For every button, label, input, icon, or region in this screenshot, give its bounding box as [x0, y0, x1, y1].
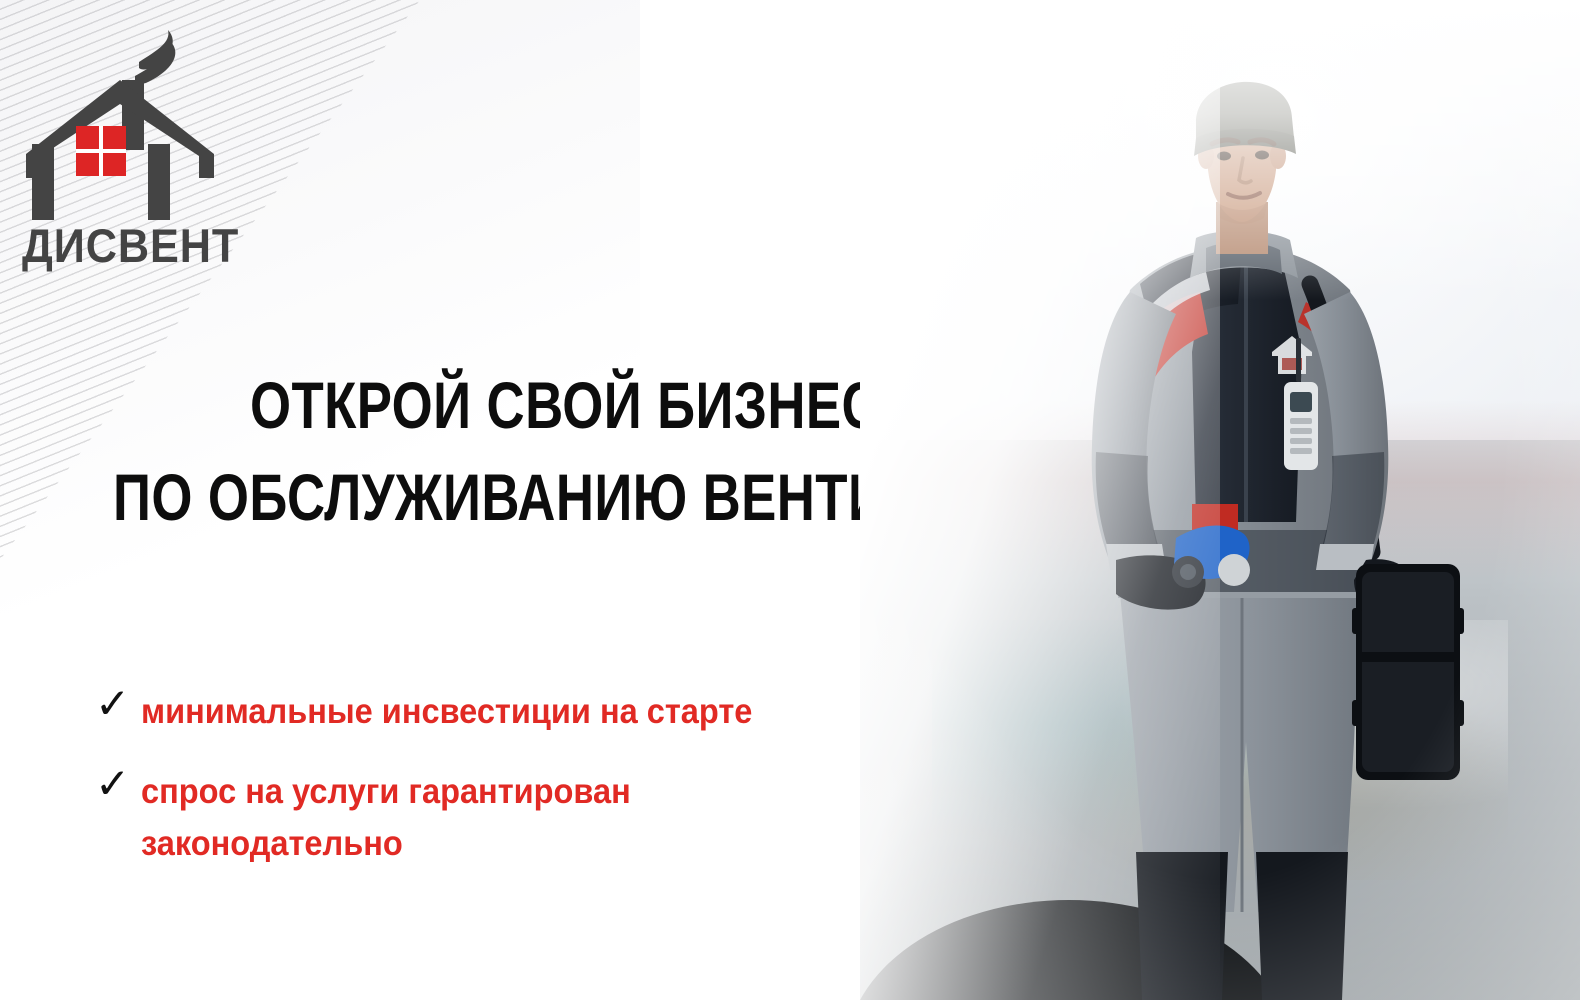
benefit-text-2: спрос на услуги гарантирован законодател… [141, 766, 631, 870]
benefit-text-1: минимальные инсвестиции на старте [141, 686, 752, 738]
brand-wordmark: ДИСВЕНТ [22, 218, 239, 273]
benefit-2-line-2: законодательно [141, 818, 631, 870]
brand-logo[interactable]: ДИСВЕНТ [8, 14, 238, 276]
ventilation-technician-photo [860, 0, 1580, 1000]
list-item: ✓ минимальные инсвестиции на старте [95, 686, 955, 738]
window-accent-icon [76, 126, 126, 176]
promo-banner: ДИСВЕНТ ОТКРОЙ СВОЙ БИЗНЕС ПО ОБСЛУЖИВАН… [0, 0, 1580, 1000]
benefit-2-line-1: спрос на услуги гарантирован [141, 766, 631, 818]
house-with-chimney-icon [26, 30, 214, 220]
equipment-case [1352, 564, 1464, 780]
benefit-1-line-1: минимальные инсвестиции на старте [141, 686, 752, 738]
checkmark-icon: ✓ [95, 684, 141, 724]
benefits-list: ✓ минимальные инсвестиции на старте ✓ сп… [95, 686, 955, 898]
photo-left-fade [860, 0, 1220, 1000]
list-item: ✓ спрос на услуги гарантирован законодат… [95, 766, 955, 870]
checkmark-icon: ✓ [95, 764, 141, 804]
